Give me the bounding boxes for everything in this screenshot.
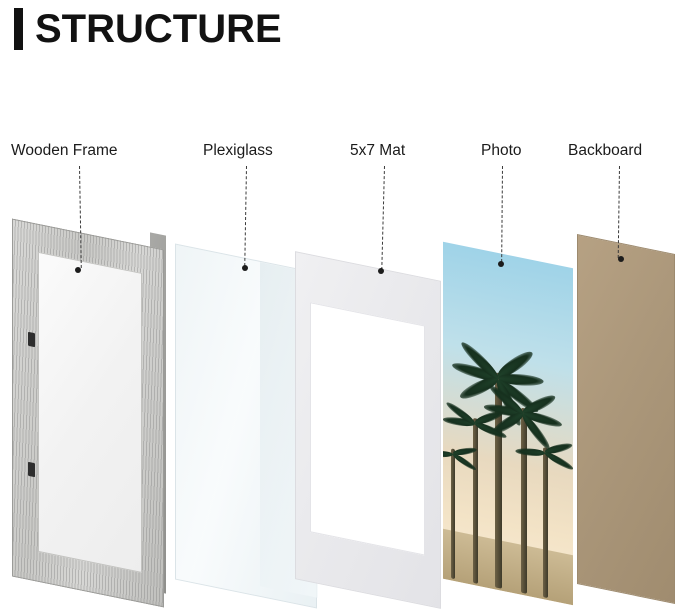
label-backboard: Backboard — [568, 142, 642, 160]
label-photo: Photo — [481, 142, 522, 160]
label-wooden-frame: Wooden Frame — [11, 142, 118, 160]
palm-trunk-4 — [543, 447, 548, 598]
leader-dot-backboard — [618, 256, 624, 262]
label-plexiglass: Plexiglass — [203, 142, 273, 160]
leader-dot-wooden-frame — [75, 267, 81, 273]
palm-frond — [544, 450, 573, 472]
leader-dot-mat — [378, 268, 384, 274]
frame-clip-top — [28, 332, 35, 347]
backboard-layer — [577, 234, 675, 604]
leader-dot-plexiglass — [242, 265, 248, 271]
photo-layer — [443, 242, 573, 605]
frame-clip-bottom — [28, 462, 35, 477]
wooden-frame-opening — [38, 252, 142, 573]
mat-layer — [295, 251, 441, 609]
wooden-frame-layer — [12, 219, 164, 608]
palm-frond — [515, 448, 546, 457]
mat-window-opening — [310, 302, 425, 555]
photo-ground — [443, 527, 573, 605]
label-mat: 5x7 Mat — [350, 142, 405, 160]
palm-trunk-3 — [473, 418, 478, 584]
palm-trunk-2 — [521, 408, 527, 594]
palm-trunk-5 — [451, 448, 455, 579]
exploded-diagram — [0, 0, 679, 592]
leader-dot-photo — [498, 261, 504, 267]
